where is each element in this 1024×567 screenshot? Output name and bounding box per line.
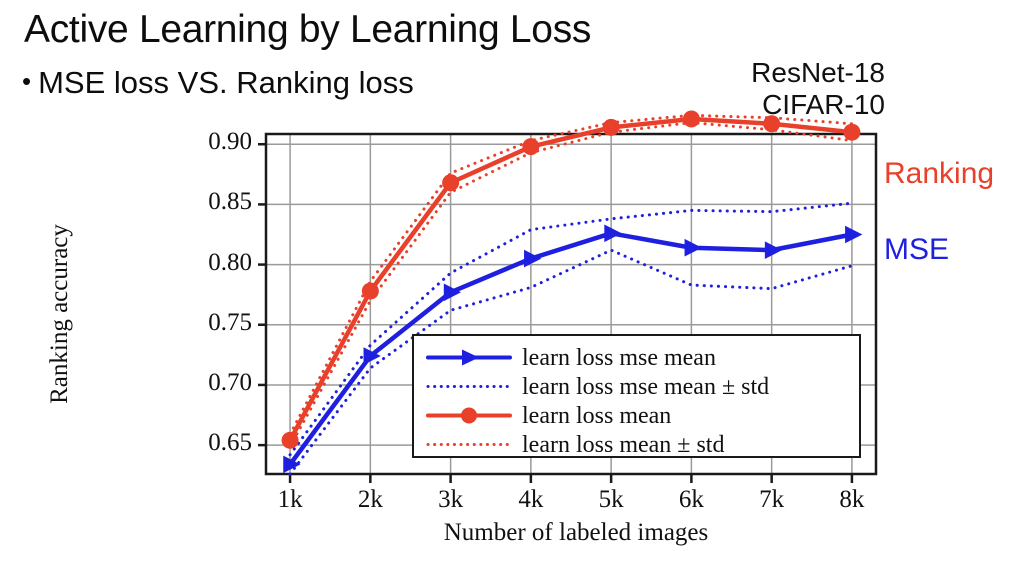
x-tick-label: 5k [581, 486, 641, 514]
x-tick-label: 8k [822, 486, 882, 514]
y-tick-label: 0.70 [166, 369, 252, 397]
legend-item: learn loss mse mean [414, 342, 863, 373]
x-tick-label: 4k [501, 486, 561, 514]
data-point-marker [843, 124, 860, 141]
legend-swatch [414, 342, 522, 373]
y-tick-label: 0.85 [166, 188, 252, 216]
chart-figure: Ranking accuracy Number of labeled image… [0, 0, 1024, 567]
y-tick-label: 0.90 [166, 128, 252, 156]
y-tick-label: 0.65 [166, 429, 252, 457]
legend-swatch [414, 371, 522, 402]
data-point-marker [683, 110, 700, 127]
legend-item: learn loss mean ± std [414, 429, 863, 460]
legend-label: learn loss mse mean ± std [522, 375, 769, 399]
plot-area [0, 0, 1024, 567]
x-axis-label: Number of labeled images [396, 519, 756, 547]
x-tick-label: 6k [661, 486, 721, 514]
data-point-marker [845, 226, 862, 244]
x-tick-label: 1k [260, 486, 320, 514]
legend-swatch [414, 429, 522, 460]
legend-label: learn loss mse mean [522, 346, 716, 370]
y-tick-label: 0.75 [166, 309, 252, 337]
chart-legend: learn loss mse meanlearn loss mse mean ±… [412, 334, 861, 458]
x-tick-label: 2k [340, 486, 400, 514]
y-tick-label: 0.80 [166, 249, 252, 277]
data-point-marker [685, 239, 702, 257]
y-axis-label: Ranking accuracy [46, 184, 74, 444]
legend-label: learn loss mean ± std [522, 433, 724, 457]
data-point-marker [444, 283, 461, 301]
x-tick-label: 7k [742, 486, 802, 514]
legend-item: learn loss mse mean ± std [414, 371, 863, 402]
data-point-marker [442, 174, 459, 191]
data-point-marker [604, 224, 621, 242]
legend-label: learn loss mean [522, 404, 671, 428]
data-point-marker [765, 241, 782, 259]
legend-swatch [414, 400, 522, 431]
x-tick-label: 3k [421, 486, 481, 514]
legend-item: learn loss mean [414, 400, 863, 431]
slide-canvas: Active Learning by Learning Loss • MSE l… [0, 0, 1024, 567]
